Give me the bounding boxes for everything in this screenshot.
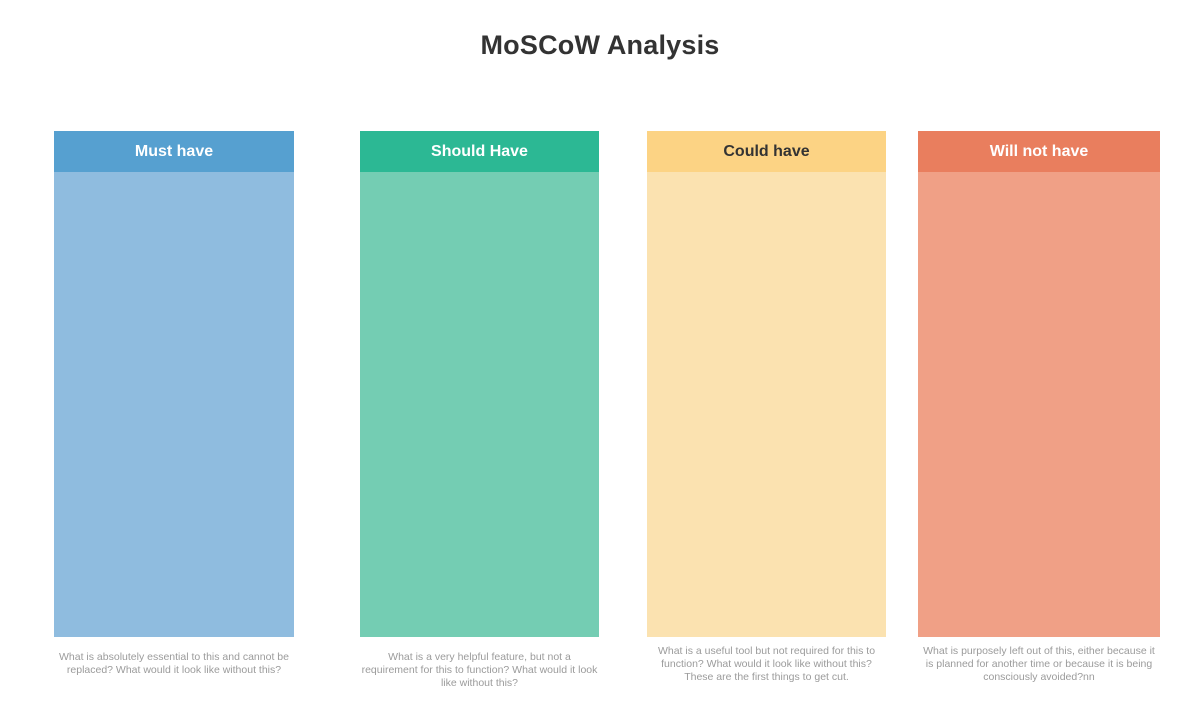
column-body-will-not-have[interactable] (918, 172, 1160, 637)
column-caption-could-have: What is a useful tool but not required f… (647, 645, 886, 684)
column-header-will-not-have[interactable]: Will not have (918, 131, 1160, 172)
column-header-should-have[interactable]: Should Have (360, 131, 599, 172)
column-caption-should-have: What is a very helpful feature, but not … (360, 651, 599, 690)
column-could-have[interactable]: Could have (647, 131, 886, 637)
column-body-must-have[interactable] (54, 172, 294, 637)
column-caption-must-have: What is absolutely essential to this and… (54, 651, 294, 677)
moscow-board: MoSCoW Analysis Must have What is absolu… (0, 0, 1200, 728)
column-must-have[interactable]: Must have (54, 131, 294, 637)
column-body-could-have[interactable] (647, 172, 886, 637)
column-header-must-have[interactable]: Must have (54, 131, 294, 172)
column-body-should-have[interactable] (360, 172, 599, 637)
column-should-have[interactable]: Should Have (360, 131, 599, 637)
column-caption-will-not-have: What is purposely left out of this, eith… (918, 645, 1160, 684)
column-header-could-have[interactable]: Could have (647, 131, 886, 172)
column-will-not-have[interactable]: Will not have (918, 131, 1160, 637)
page-title: MoSCoW Analysis (0, 30, 1200, 61)
